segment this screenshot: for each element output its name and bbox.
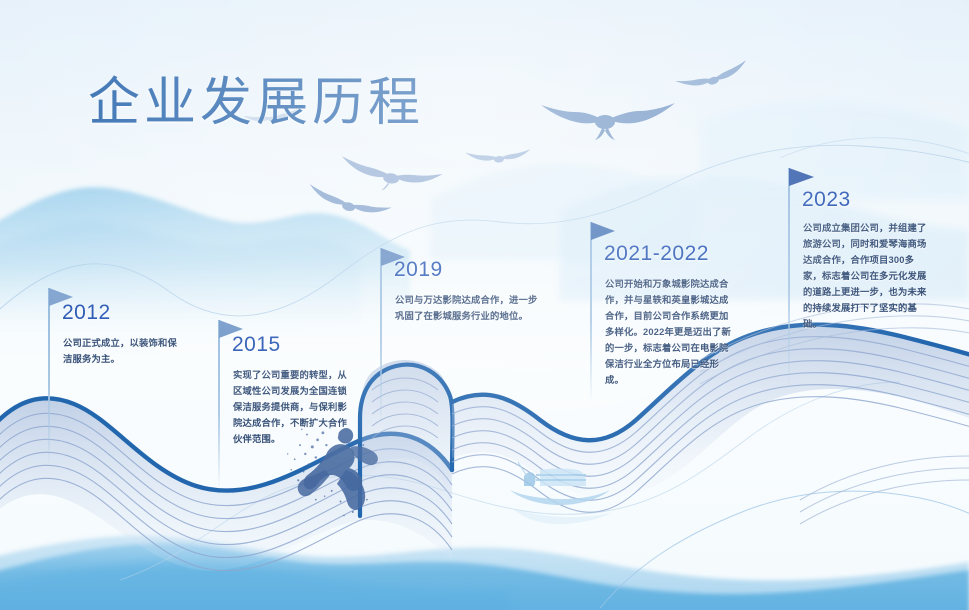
year-label-2023: 2023 [802,188,851,212]
seagull-large-center [541,103,675,140]
flag-icon-2023 [789,168,814,186]
flagpole-2019 [380,248,382,426]
description-2012: 公司正式成立，以装饰和保洁服务为主。 [63,336,185,368]
description-2021-2022: 公司开始和万象城影院达成合作，并与星轶和英皇影城达成合作，目前公司合作系统更加多… [605,277,733,389]
flagpole-2023 [788,168,790,390]
flagpole-2012 [48,288,50,468]
seagull-small-center [465,147,531,166]
seagull-lower-left [306,184,393,221]
year-label-2015: 2015 [232,333,281,357]
description-2015: 实现了公司重要的转型，从区域性公司发展为全国连锁保洁服务提供商，与保利影院达成合… [233,368,355,448]
seagull-left-mid [338,156,443,198]
year-label-2019: 2019 [394,258,443,282]
flagpole-2021-2022 [590,222,592,402]
infographic-canvas: 企业发展历程 2012 公司正式成立，以装饰和保洁服务为主。 2015 实现了公… [0,0,969,610]
page-title: 企业发展历程 [88,60,424,135]
description-2019: 公司与万达影院达成合作，进一步巩固了在影城服务行业的地位。 [395,293,541,325]
flagpole-2015 [218,320,220,488]
seagull-upper-right [675,58,750,95]
year-label-2021-2022: 2021-2022 [604,242,709,266]
description-2023: 公司成立集团公司，并组建了旅游公司，同时和爱琴海商场达成合作，合作项目300多家… [803,221,931,333]
year-label-2012: 2012 [62,301,111,325]
flag-icon-2021-2022 [591,222,615,240]
